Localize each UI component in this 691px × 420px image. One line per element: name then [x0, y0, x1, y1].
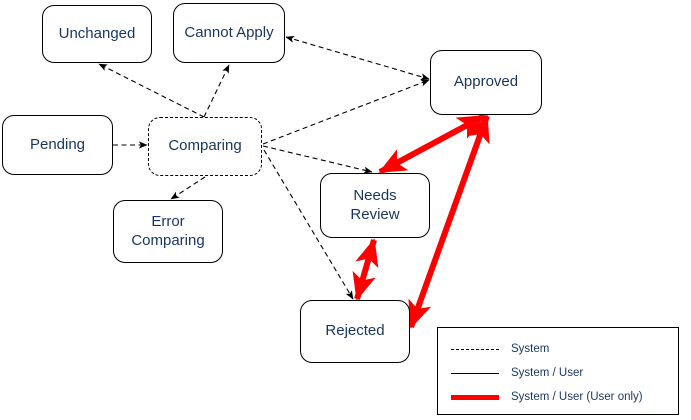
node-label-unchanged: Unchanged: [55, 25, 140, 43]
node-label-error-comparing: Error Comparing: [127, 213, 208, 250]
edge-approved-needs-review: [380, 116, 484, 172]
legend-item-system: System: [451, 337, 678, 361]
node-rejected[interactable]: Rejected: [300, 300, 410, 363]
node-label-cannot-apply: Cannot Apply: [180, 24, 277, 42]
legend-item-system-user: System / User: [451, 361, 678, 385]
edge-comparing-to-needs-review: [263, 146, 372, 172]
edge-cannot-apply-approved: [286, 37, 429, 79]
legend-label-system-user-only: System / User (User only): [511, 391, 643, 403]
legend-swatch-dashed-line: [451, 343, 499, 355]
node-pending[interactable]: Pending: [2, 115, 113, 175]
legend-swatch-solid-line: [451, 367, 499, 379]
node-comparing[interactable]: Comparing: [148, 117, 262, 176]
legend-label-system-user: System / User: [511, 367, 583, 379]
legend-item-system-user-only: System / User (User only): [451, 385, 678, 409]
edge-comparing-to-approved: [263, 80, 429, 144]
legend-label-system: System: [511, 343, 549, 355]
node-cannot-apply[interactable]: Cannot Apply: [173, 3, 285, 63]
node-label-rejected: Rejected: [321, 322, 388, 340]
legend-box: System System / User System / User (User…: [437, 327, 679, 415]
node-label-pending: Pending: [26, 136, 89, 154]
legend-swatch-red-line: [451, 391, 499, 403]
edge-comparing-to-error-comparing: [171, 177, 205, 199]
node-label-needs-review: Needs Review: [346, 187, 403, 224]
node-needs-review[interactable]: Needs Review: [320, 173, 430, 238]
node-label-comparing: Comparing: [164, 137, 245, 155]
edge-comparing-to-unchanged: [99, 64, 204, 117]
node-approved[interactable]: Approved: [430, 50, 542, 115]
node-unchanged[interactable]: Unchanged: [42, 5, 152, 63]
node-label-approved: Approved: [450, 73, 522, 91]
diagram-canvas: Unchanged Cannot Apply Approved Pending …: [0, 0, 691, 420]
node-error-comparing[interactable]: Error Comparing: [113, 200, 223, 263]
edge-needs-review-rejected: [357, 240, 374, 299]
edge-comparing-to-cannot-apply: [204, 65, 229, 117]
